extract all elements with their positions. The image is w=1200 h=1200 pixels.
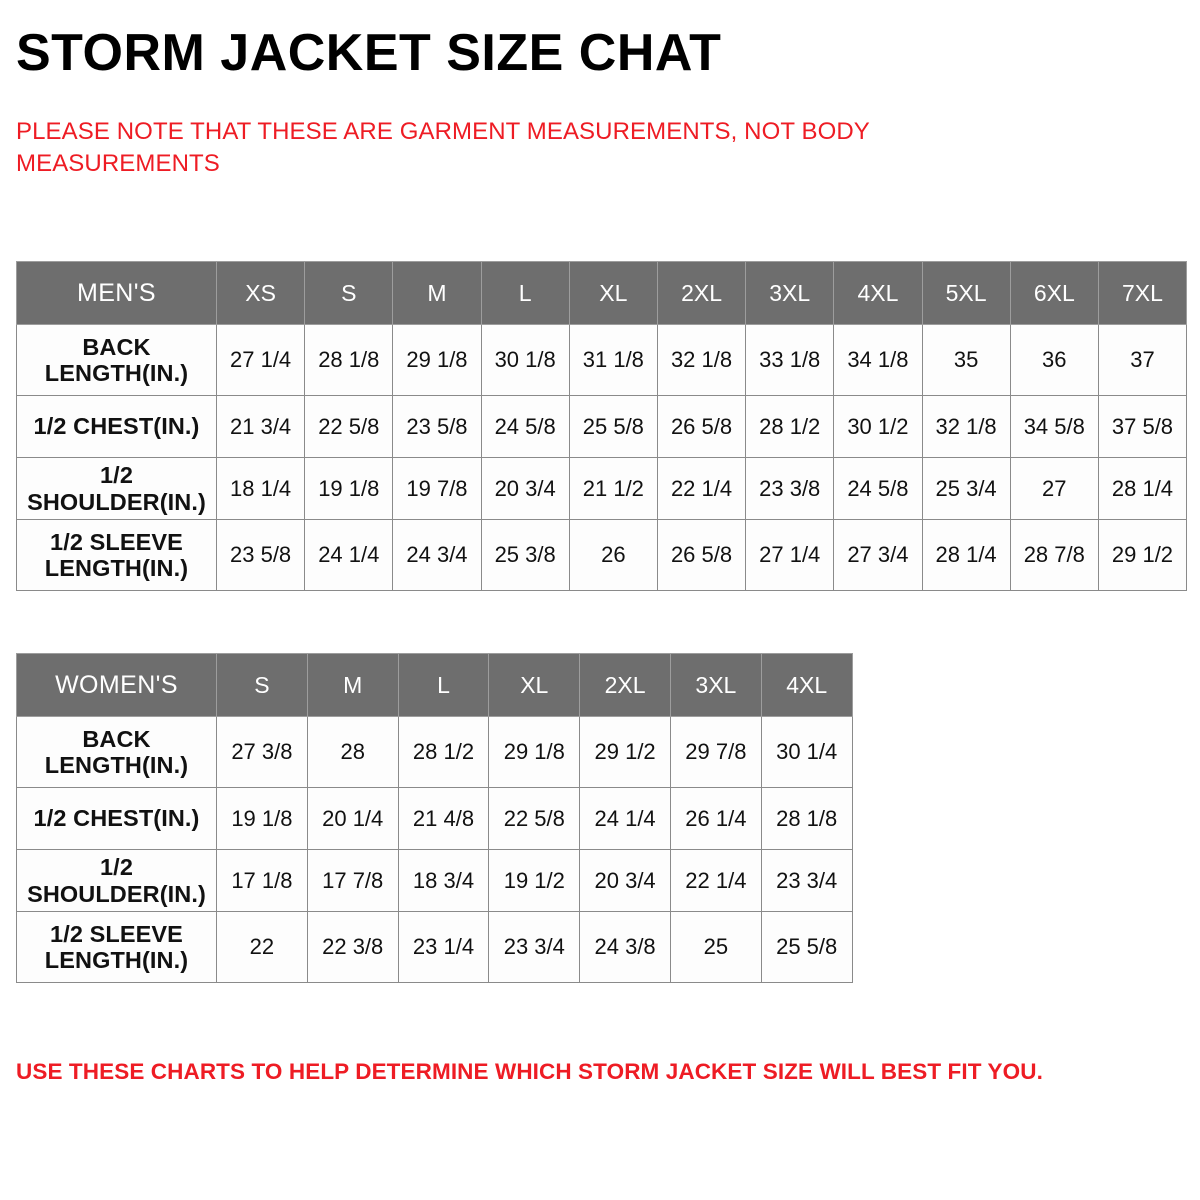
- womens-size-header-m: M: [307, 654, 398, 717]
- mens-size-header-m: M: [393, 262, 481, 325]
- womens-size-header-l: L: [398, 654, 489, 717]
- mens-cell-3-7: 27 3/4: [834, 520, 922, 591]
- mens-cell-1-10: 37 5/8: [1098, 396, 1186, 458]
- womens-cell-0-1: 28: [307, 717, 398, 788]
- mens-cell-0-9: 36: [1010, 325, 1098, 396]
- mens-cell-1-6: 28 1/2: [746, 396, 834, 458]
- table-row: 1/2 SLEEVELENGTH(IN.)2222 3/823 1/423 3/…: [17, 912, 853, 983]
- mens-cell-1-2: 23 5/8: [393, 396, 481, 458]
- womens-header-row: WOMEN'SSMLXL2XL3XL4XL: [17, 654, 853, 717]
- womens-cell-3-0: 22: [217, 912, 308, 983]
- mens-cell-1-5: 26 5/8: [657, 396, 745, 458]
- sizing-help-note: USE THESE CHARTS TO HELP DETERMINE WHICH…: [16, 1057, 1136, 1086]
- mens-cell-0-5: 32 1/8: [657, 325, 745, 396]
- womens-cell-1-3: 22 5/8: [489, 788, 580, 850]
- mens-table-head: MEN'SXSSMLXL2XL3XL4XL5XL6XL7XL: [17, 262, 1187, 325]
- womens-table-head: WOMEN'SSMLXL2XL3XL4XL: [17, 654, 853, 717]
- mens-size-header-4xl: 4XL: [834, 262, 922, 325]
- mens-size-header-3xl: 3XL: [746, 262, 834, 325]
- mens-size-header-xs: XS: [217, 262, 305, 325]
- womens-measure-label: BACKLENGTH(IN.): [17, 717, 217, 788]
- mens-cell-3-4: 26: [569, 520, 657, 591]
- womens-cell-0-6: 30 1/4: [761, 717, 852, 788]
- mens-cell-3-5: 26 5/8: [657, 520, 745, 591]
- mens-cell-2-6: 23 3/8: [746, 458, 834, 520]
- mens-cell-2-7: 24 5/8: [834, 458, 922, 520]
- table-row: 1/2 SHOULDER(IN.)17 1/817 7/818 3/419 1/…: [17, 850, 853, 912]
- womens-size-header-3xl: 3XL: [670, 654, 761, 717]
- womens-measure-label: 1/2 CHEST(IN.): [17, 788, 217, 850]
- womens-table-body: BACKLENGTH(IN.)27 3/82828 1/229 1/829 1/…: [17, 717, 853, 983]
- table-row: 1/2 SHOULDER(IN.)18 1/419 1/819 7/820 3/…: [17, 458, 1187, 520]
- womens-size-header-2xl: 2XL: [580, 654, 671, 717]
- mens-cell-2-8: 25 3/4: [922, 458, 1010, 520]
- womens-cell-2-4: 20 3/4: [580, 850, 671, 912]
- garment-measurement-note: PLEASE NOTE THAT THESE ARE GARMENT MEASU…: [16, 116, 996, 179]
- table-row: 1/2 CHEST(IN.)19 1/820 1/421 4/822 5/824…: [17, 788, 853, 850]
- mens-size-header-l: L: [481, 262, 569, 325]
- mens-cell-1-4: 25 5/8: [569, 396, 657, 458]
- size-chart-page: STORM JACKET SIZE CHAT PLEASE NOTE THAT …: [0, 0, 1200, 1200]
- mens-size-header-2xl: 2XL: [657, 262, 745, 325]
- mens-cell-0-8: 35: [922, 325, 1010, 396]
- womens-cell-2-5: 22 1/4: [670, 850, 761, 912]
- mens-size-header-5xl: 5XL: [922, 262, 1010, 325]
- mens-cell-1-1: 22 5/8: [305, 396, 393, 458]
- womens-size-table: WOMEN'SSMLXL2XL3XL4XL BACKLENGTH(IN.)27 …: [16, 653, 853, 983]
- mens-cell-3-9: 28 7/8: [1010, 520, 1098, 591]
- mens-cell-1-9: 34 5/8: [1010, 396, 1098, 458]
- womens-group-label: WOMEN'S: [17, 654, 217, 717]
- womens-cell-0-2: 28 1/2: [398, 717, 489, 788]
- womens-cell-2-2: 18 3/4: [398, 850, 489, 912]
- mens-cell-0-2: 29 1/8: [393, 325, 481, 396]
- mens-size-header-6xl: 6XL: [1010, 262, 1098, 325]
- womens-cell-1-5: 26 1/4: [670, 788, 761, 850]
- womens-measure-label: 1/2 SLEEVELENGTH(IN.): [17, 912, 217, 983]
- mens-cell-3-1: 24 1/4: [305, 520, 393, 591]
- table-row: BACKLENGTH(IN.)27 1/428 1/829 1/830 1/83…: [17, 325, 1187, 396]
- womens-cell-0-4: 29 1/2: [580, 717, 671, 788]
- table-row: 1/2 CHEST(IN.)21 3/422 5/823 5/824 5/825…: [17, 396, 1187, 458]
- womens-cell-2-6: 23 3/4: [761, 850, 852, 912]
- womens-cell-0-3: 29 1/8: [489, 717, 580, 788]
- mens-size-header-7xl: 7XL: [1098, 262, 1186, 325]
- page-title: STORM JACKET SIZE CHAT: [16, 26, 721, 81]
- womens-cell-1-4: 24 1/4: [580, 788, 671, 850]
- mens-cell-2-1: 19 1/8: [305, 458, 393, 520]
- mens-cell-1-3: 24 5/8: [481, 396, 569, 458]
- mens-cell-3-6: 27 1/4: [746, 520, 834, 591]
- table-row: BACKLENGTH(IN.)27 3/82828 1/229 1/829 1/…: [17, 717, 853, 788]
- womens-measure-label: 1/2 SHOULDER(IN.): [17, 850, 217, 912]
- mens-header-row: MEN'SXSSMLXL2XL3XL4XL5XL6XL7XL: [17, 262, 1187, 325]
- mens-cell-0-0: 27 1/4: [217, 325, 305, 396]
- mens-measure-label: 1/2 CHEST(IN.): [17, 396, 217, 458]
- womens-cell-2-3: 19 1/2: [489, 850, 580, 912]
- mens-cell-3-8: 28 1/4: [922, 520, 1010, 591]
- mens-cell-0-7: 34 1/8: [834, 325, 922, 396]
- womens-cell-1-6: 28 1/8: [761, 788, 852, 850]
- mens-cell-2-10: 28 1/4: [1098, 458, 1186, 520]
- mens-measure-label: 1/2 SHOULDER(IN.): [17, 458, 217, 520]
- womens-size-header-xl: XL: [489, 654, 580, 717]
- mens-size-header-xl: XL: [569, 262, 657, 325]
- womens-cell-3-5: 25: [670, 912, 761, 983]
- mens-cell-1-0: 21 3/4: [217, 396, 305, 458]
- womens-cell-3-4: 24 3/8: [580, 912, 671, 983]
- womens-cell-1-2: 21 4/8: [398, 788, 489, 850]
- mens-cell-0-6: 33 1/8: [746, 325, 834, 396]
- mens-cell-1-8: 32 1/8: [922, 396, 1010, 458]
- mens-cell-0-3: 30 1/8: [481, 325, 569, 396]
- mens-cell-2-9: 27: [1010, 458, 1098, 520]
- mens-cell-0-1: 28 1/8: [305, 325, 393, 396]
- womens-cell-2-1: 17 7/8: [307, 850, 398, 912]
- womens-cell-0-0: 27 3/8: [217, 717, 308, 788]
- mens-measure-label: BACKLENGTH(IN.): [17, 325, 217, 396]
- mens-cell-3-0: 23 5/8: [217, 520, 305, 591]
- mens-cell-0-4: 31 1/8: [569, 325, 657, 396]
- womens-size-header-s: S: [217, 654, 308, 717]
- mens-size-table: MEN'SXSSMLXL2XL3XL4XL5XL6XL7XL BACKLENGT…: [16, 261, 1187, 591]
- womens-cell-2-0: 17 1/8: [217, 850, 308, 912]
- mens-cell-2-5: 22 1/4: [657, 458, 745, 520]
- mens-measure-label: 1/2 SLEEVELENGTH(IN.): [17, 520, 217, 591]
- mens-size-header-s: S: [305, 262, 393, 325]
- mens-cell-2-4: 21 1/2: [569, 458, 657, 520]
- mens-group-label: MEN'S: [17, 262, 217, 325]
- mens-cell-2-3: 20 3/4: [481, 458, 569, 520]
- mens-cell-2-0: 18 1/4: [217, 458, 305, 520]
- womens-cell-1-1: 20 1/4: [307, 788, 398, 850]
- mens-cell-3-3: 25 3/8: [481, 520, 569, 591]
- mens-cell-1-7: 30 1/2: [834, 396, 922, 458]
- womens-size-header-4xl: 4XL: [761, 654, 852, 717]
- mens-cell-3-2: 24 3/4: [393, 520, 481, 591]
- womens-cell-1-0: 19 1/8: [217, 788, 308, 850]
- womens-cell-3-6: 25 5/8: [761, 912, 852, 983]
- mens-cell-0-10: 37: [1098, 325, 1186, 396]
- womens-cell-3-3: 23 3/4: [489, 912, 580, 983]
- mens-cell-3-10: 29 1/2: [1098, 520, 1186, 591]
- womens-cell-0-5: 29 7/8: [670, 717, 761, 788]
- mens-cell-2-2: 19 7/8: [393, 458, 481, 520]
- womens-cell-3-2: 23 1/4: [398, 912, 489, 983]
- mens-table-body: BACKLENGTH(IN.)27 1/428 1/829 1/830 1/83…: [17, 325, 1187, 591]
- womens-cell-3-1: 22 3/8: [307, 912, 398, 983]
- table-row: 1/2 SLEEVELENGTH(IN.)23 5/824 1/424 3/42…: [17, 520, 1187, 591]
